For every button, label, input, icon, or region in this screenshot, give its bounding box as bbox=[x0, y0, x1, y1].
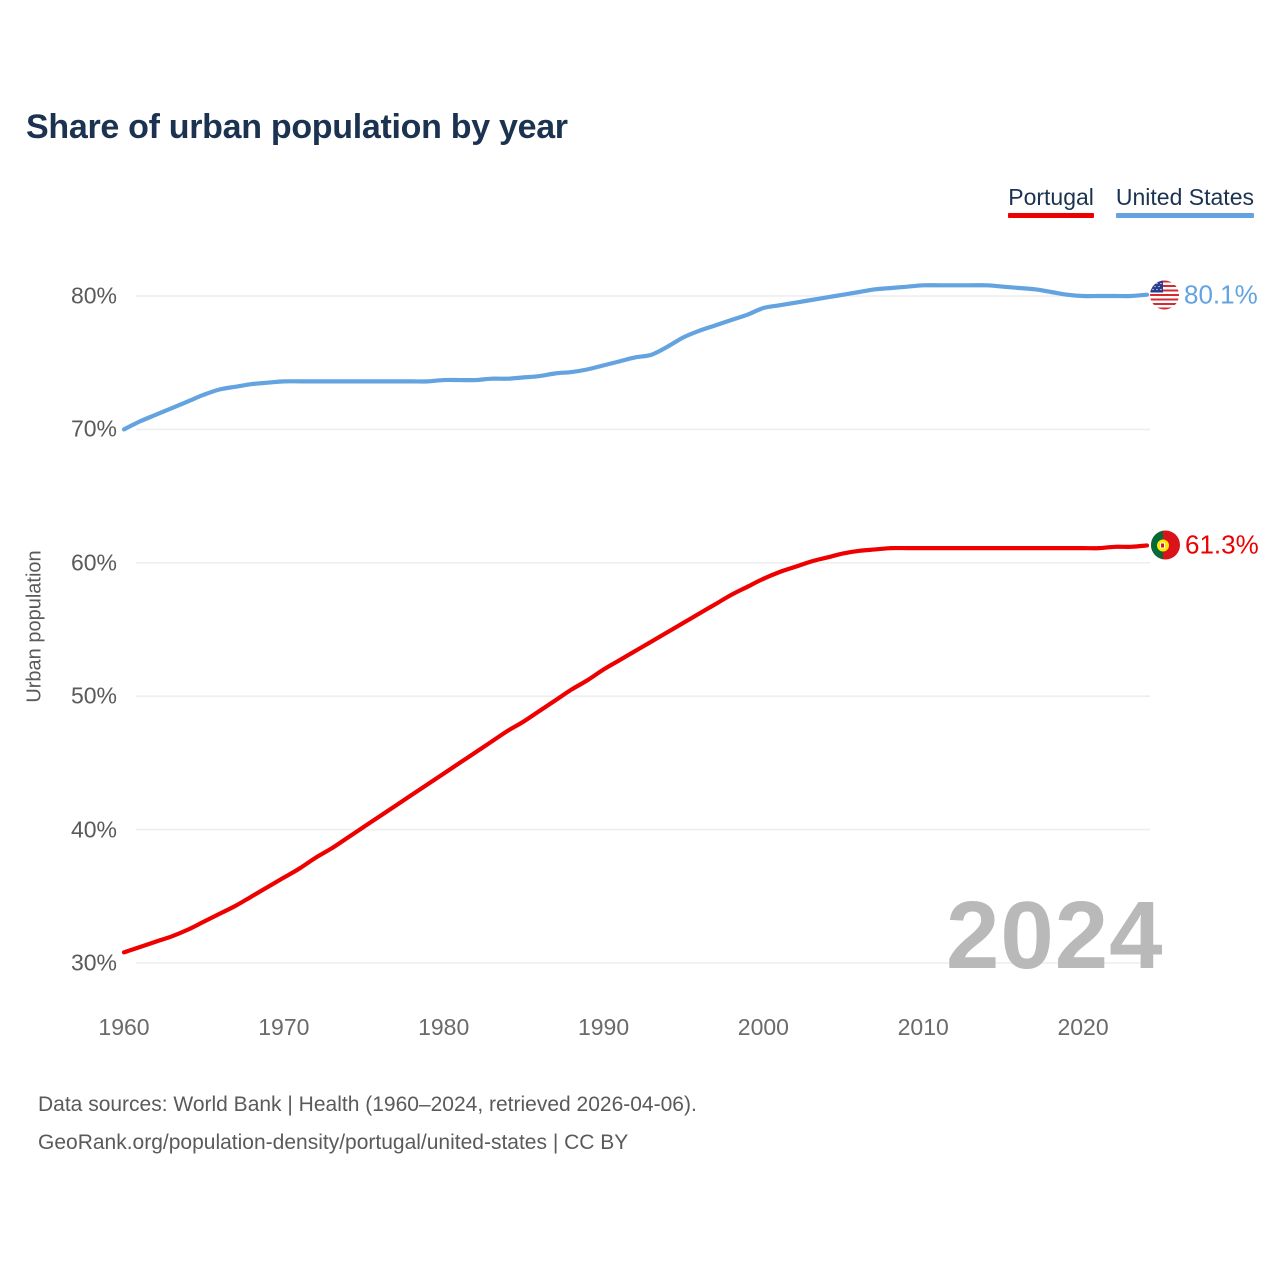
legend-item-united-states[interactable]: United States bbox=[1116, 183, 1254, 218]
endpoint-value-portugal: 61.3% bbox=[1185, 530, 1259, 561]
footer-attribution: GeoRank.org/population-density/portugal/… bbox=[38, 1124, 697, 1162]
series-line-united-states bbox=[124, 285, 1147, 429]
endpoint-marker-united-states[interactable]: 80.1% bbox=[1150, 279, 1258, 310]
y-axis-title: Urban population bbox=[24, 527, 47, 727]
legend-label-united-states: United States bbox=[1116, 183, 1254, 211]
chart-legend: Portugal United States bbox=[1008, 183, 1254, 218]
x-tick-1970: 1970 bbox=[258, 1014, 309, 1041]
flag-us-icon bbox=[1150, 280, 1179, 309]
chart-page: Share of urban population by year Portug… bbox=[0, 0, 1280, 1280]
chart-footer: Data sources: World Bank | Health (1960–… bbox=[38, 1086, 697, 1162]
endpoint-value-united-states: 80.1% bbox=[1184, 279, 1258, 310]
y-tick-50: 50% bbox=[0, 683, 117, 710]
x-tick-1960: 1960 bbox=[98, 1014, 149, 1041]
legend-color-swatch-portugal bbox=[1008, 213, 1094, 218]
x-tick-2020: 2020 bbox=[1057, 1014, 1108, 1041]
footer-data-sources: Data sources: World Bank | Health (1960–… bbox=[38, 1086, 697, 1124]
flag-pt-icon bbox=[1151, 531, 1180, 560]
x-tick-2000: 2000 bbox=[738, 1014, 789, 1041]
y-tick-60: 60% bbox=[0, 549, 117, 576]
y-tick-40: 40% bbox=[0, 816, 117, 843]
legend-label-portugal: Portugal bbox=[1008, 183, 1094, 211]
y-tick-80: 80% bbox=[0, 283, 117, 310]
page-title: Share of urban population by year bbox=[26, 108, 568, 147]
legend-color-swatch-united-states bbox=[1116, 213, 1254, 218]
x-tick-1980: 1980 bbox=[418, 1014, 469, 1041]
year-watermark: 2024 bbox=[946, 888, 1164, 984]
legend-item-portugal[interactable]: Portugal bbox=[1008, 183, 1094, 218]
y-tick-70: 70% bbox=[0, 416, 117, 443]
x-tick-2010: 2010 bbox=[898, 1014, 949, 1041]
x-tick-1990: 1990 bbox=[578, 1014, 629, 1041]
y-tick-30: 30% bbox=[0, 950, 117, 977]
endpoint-marker-portugal[interactable]: 61.3% bbox=[1151, 530, 1259, 561]
